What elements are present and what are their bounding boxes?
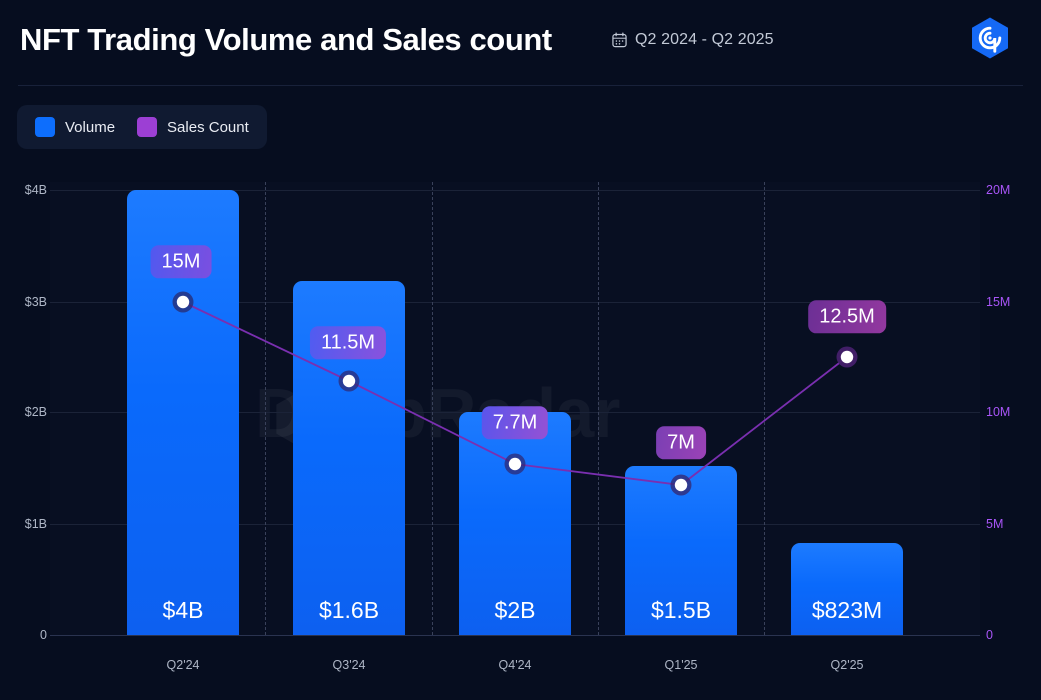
date-range[interactable]: Q2 2024 - Q2 2025 [612,31,774,49]
bar-value-label: $1.5B [625,597,737,624]
x-axis-tick-q4-24: Q4'24 [499,658,532,672]
vgrid-3 [598,182,599,635]
dappradar-logo-icon[interactable] [964,14,1016,66]
bar-q4-24[interactable]: $2B [459,412,571,635]
y-axis-right-tick-0: 20M [986,183,1010,197]
calendar-icon [612,32,627,48]
y-axis-right-tick-4: 0 [986,628,993,642]
point-label-q2-24: 15M [151,245,212,278]
chart-area: DappRadar $4B $3B $2B $1B 0 20M 15M 10M … [0,160,1041,700]
y-axis-left-tick-0: $4B [25,183,47,197]
bar-q1-25[interactable]: $1.5B [625,466,737,635]
page-title: NFT Trading Volume and Sales count [20,22,552,58]
vgrid-1 [265,182,266,635]
x-axis-tick-q1-25: Q1'25 [665,658,698,672]
x-axis-tick-q3-24: Q3'24 [333,658,366,672]
legend-item-volume[interactable]: Volume [35,117,115,137]
y-axis-left-tick-3: $1B [25,517,47,531]
y-axis-left-tick-1: $3B [25,295,47,309]
date-range-label: Q2 2024 - Q2 2025 [635,31,774,49]
y-axis-left-tick-2: $2B [25,405,47,419]
y-axis-right-tick-1: 15M [986,295,1010,309]
point-label-q1-25: 7M [656,426,706,459]
legend-swatch-sales-count [137,117,157,137]
vgrid-2 [432,182,433,635]
bar-q2-25[interactable]: $823M [791,543,903,635]
point-label-q3-24: 11.5M [310,326,386,359]
header-divider [18,85,1023,86]
bar-value-label: $4B [127,597,239,624]
gridline-zero [50,635,980,636]
point-label-q4-24: 7.7M [482,406,548,439]
legend-label-volume: Volume [65,119,115,136]
point-label-q2-25: 12.5M [808,300,886,333]
x-axis-tick-q2-25: Q2'25 [831,658,864,672]
legend-swatch-volume [35,117,55,137]
chart-legend: Volume Sales Count [17,105,267,149]
x-axis-tick-q2-24: Q2'24 [167,658,200,672]
bar-value-label: $823M [791,597,903,624]
y-axis-right-tick-3: 5M [986,517,1003,531]
header: NFT Trading Volume and Sales count Q2 20… [0,0,1041,84]
legend-item-sales-count[interactable]: Sales Count [137,117,249,137]
y-axis-right-tick-2: 10M [986,405,1010,419]
bar-value-label: $1.6B [293,597,405,624]
vgrid-4 [764,182,765,635]
bar-value-label: $2B [459,597,571,624]
chart-page: NFT Trading Volume and Sales count Q2 20… [0,0,1041,700]
y-axis-left-tick-4: 0 [40,628,47,642]
legend-label-sales-count: Sales Count [167,119,249,136]
